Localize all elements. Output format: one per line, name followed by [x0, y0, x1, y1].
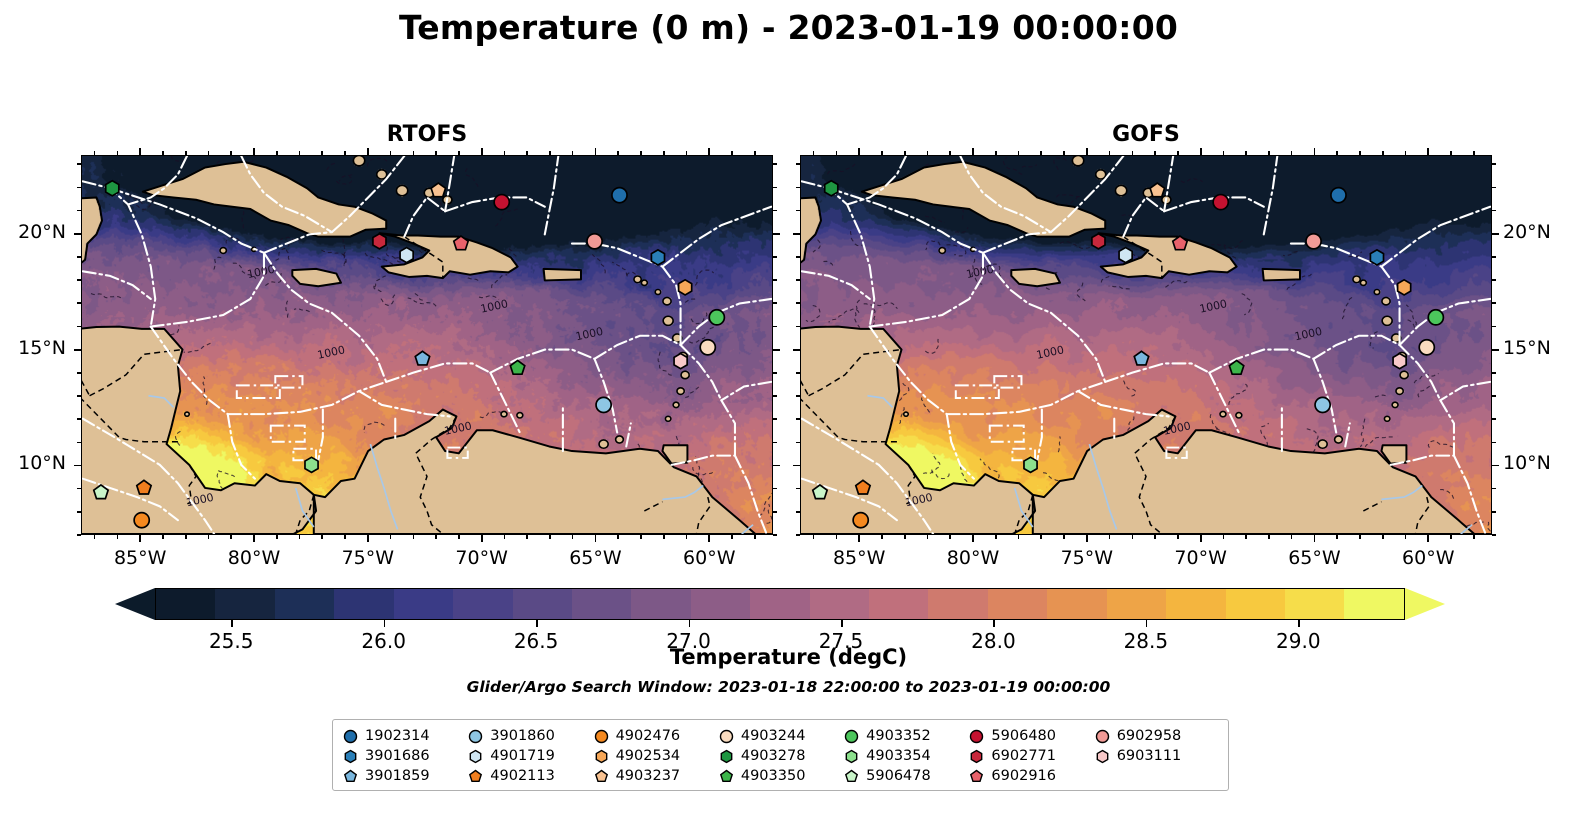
y-tick-minor: [77, 187, 81, 189]
x-tick-minor: [1063, 151, 1065, 155]
x-tick-minor: [208, 151, 210, 155]
legend-label: 4902534: [616, 748, 681, 764]
y-tick-minor: [773, 256, 777, 258]
x-tick-minor: [458, 535, 460, 539]
float-marker-1902314[interactable]: [612, 188, 627, 203]
y-tick-minor: [796, 418, 800, 420]
float-marker-4903237[interactable]: [431, 183, 445, 197]
x-tick-minor: [1018, 535, 1020, 539]
legend-marker-hexagon: [343, 749, 358, 764]
x-tick-minor: [1245, 535, 1247, 539]
x-tick: [972, 535, 974, 542]
x-tick-minor: [1245, 151, 1247, 155]
legend-marker-pentagon: [844, 769, 859, 784]
float-marker-4902476[interactable]: [134, 513, 149, 528]
legend-marker-hexagon: [594, 749, 609, 764]
x-tick: [481, 148, 483, 155]
legend-entry-6902916[interactable]: 6902916: [969, 768, 1092, 784]
legend-entry-5906480[interactable]: 5906480: [969, 728, 1092, 744]
y-tick-minor: [773, 442, 777, 444]
float-marker-4901719[interactable]: [1119, 248, 1132, 263]
float-marker-4902534[interactable]: [679, 280, 692, 295]
x-tick-minor: [94, 535, 96, 539]
x-tick-minor: [1132, 535, 1134, 539]
figure-canvas: Temperature (0 m) - 2023-01-19 00:00:00 …: [0, 0, 1577, 827]
legend-label: 4902476: [616, 728, 681, 744]
y-tick: [1492, 349, 1499, 351]
float-marker-5906478[interactable]: [94, 485, 108, 499]
x-tick-minor: [1154, 151, 1156, 155]
x-tick-minor: [1450, 535, 1452, 539]
float-marker-4903244[interactable]: [700, 340, 715, 355]
x-tick-minor: [1109, 151, 1111, 155]
x-tick-minor: [1177, 151, 1179, 155]
x-tick-minor: [390, 535, 392, 539]
y-tick-label: 15°N: [1503, 337, 1577, 359]
legend-label: 4903278: [741, 748, 806, 764]
x-tick-minor: [1063, 535, 1065, 539]
legend-marker-circle: [1095, 729, 1110, 744]
float-marker-4903278[interactable]: [825, 181, 838, 196]
float-marker-5906478[interactable]: [813, 485, 827, 499]
x-tick-minor: [390, 151, 392, 155]
y-tick-minor: [773, 326, 777, 328]
legend-label: 3901859: [365, 768, 430, 784]
x-tick-minor: [1154, 535, 1156, 539]
legend-entry-3901860[interactable]: 3901860: [468, 728, 591, 744]
legend-entry-4903352[interactable]: 4903352: [844, 728, 967, 744]
legend-marker-hexagon: [468, 749, 483, 764]
y-tick-minor: [77, 442, 81, 444]
y-tick-minor: [796, 279, 800, 281]
float-marker-4903354[interactable]: [305, 457, 318, 472]
legend-label: 3901686: [365, 748, 430, 764]
float-marker-3901859[interactable]: [1134, 351, 1148, 365]
y-tick-minor: [77, 418, 81, 420]
float-marker-1902314[interactable]: [1331, 188, 1346, 203]
x-tick-minor: [1040, 151, 1042, 155]
legend-label: 6902958: [1117, 728, 1182, 744]
colorbar-label: Temperature (degC): [0, 645, 1577, 669]
x-tick-minor: [1268, 535, 1270, 539]
legend-entry-4903350[interactable]: 4903350: [719, 768, 842, 784]
legend-marker-pentagon: [468, 769, 483, 784]
y-tick: [773, 349, 780, 351]
x-tick-minor: [526, 151, 528, 155]
y-tick-minor: [77, 395, 81, 397]
legend-entry-4903244[interactable]: 4903244: [719, 728, 842, 744]
x-tick-minor: [549, 151, 551, 155]
y-tick-label: 10°N: [1503, 452, 1577, 474]
x-tick-minor: [881, 535, 883, 539]
x-tick: [367, 535, 369, 542]
y-tick-minor: [796, 163, 800, 165]
float-marker-6902958[interactable]: [1306, 234, 1321, 249]
y-tick-minor: [77, 326, 81, 328]
y-tick-minor: [1492, 511, 1496, 513]
float-marker-6902916[interactable]: [1173, 236, 1187, 250]
y-tick: [773, 465, 780, 467]
x-tick-minor: [413, 535, 415, 539]
colorbar-gradient: [155, 588, 1405, 620]
legend-marker-pentagon: [343, 769, 358, 784]
y-tick-minor: [1492, 488, 1496, 490]
x-tick-minor: [754, 151, 756, 155]
float-marker-6903111[interactable]: [1393, 354, 1406, 369]
y-tick-minor: [796, 210, 800, 212]
x-tick-minor: [995, 151, 997, 155]
float-marker-3901686[interactable]: [651, 250, 664, 265]
y-tick-minor: [773, 418, 777, 420]
x-tick-minor: [1291, 151, 1293, 155]
y-tick-minor: [77, 534, 81, 536]
legend-marker-hexagon: [1095, 749, 1110, 764]
y-tick-label: 10°N: [0, 452, 66, 474]
x-tick: [858, 535, 860, 542]
x-tick-minor: [458, 151, 460, 155]
x-tick-minor: [927, 151, 929, 155]
legend-entry-6902771[interactable]: 6902771: [969, 748, 1092, 764]
x-tick-minor: [1223, 535, 1225, 539]
y-tick-minor: [1492, 372, 1496, 374]
y-tick-minor: [773, 279, 777, 281]
y-tick-minor: [796, 511, 800, 513]
float-marker-4903350[interactable]: [1229, 360, 1243, 374]
y-tick-minor: [1492, 326, 1496, 328]
float-marker-4902113[interactable]: [137, 480, 151, 494]
legend-entry-4902476[interactable]: 4902476: [594, 728, 717, 744]
x-tick-label: 65°W: [1288, 547, 1340, 569]
colorbar-tick: [1146, 620, 1148, 627]
y-tick-minor: [773, 534, 777, 536]
x-tick-minor: [321, 535, 323, 539]
y-tick-minor: [77, 488, 81, 490]
x-tick-minor: [299, 151, 301, 155]
y-tick-minor: [1492, 256, 1496, 258]
x-tick-minor: [276, 151, 278, 155]
y-tick-minor: [773, 372, 777, 374]
y-tick-minor: [1492, 534, 1496, 536]
x-tick-label: 60°W: [1402, 547, 1454, 569]
legend-marker-circle: [343, 729, 358, 744]
legend-entry-4903278[interactable]: 4903278: [719, 748, 842, 764]
float-markers[interactable]: [801, 156, 1491, 534]
x-tick-minor: [230, 151, 232, 155]
x-tick-minor: [1268, 151, 1270, 155]
x-tick-minor: [1018, 151, 1020, 155]
legend-entry-4901719[interactable]: 4901719: [468, 748, 591, 764]
float-markers[interactable]: [82, 156, 772, 534]
y-tick-minor: [796, 256, 800, 258]
float-marker-4903278[interactable]: [106, 181, 119, 196]
x-tick: [1086, 535, 1088, 542]
legend-label: 4903237: [616, 768, 681, 784]
y-tick-label: 20°N: [0, 221, 66, 243]
legend-entry-4903237[interactable]: 4903237: [594, 768, 717, 784]
map-panel-rtofs[interactable]: 100010001000100010001000: [81, 155, 773, 535]
float-marker-4901719[interactable]: [400, 248, 413, 263]
legend-entry-4903354[interactable]: 4903354: [844, 748, 967, 764]
legend-marker-pentagon: [594, 769, 609, 784]
y-tick-minor: [1492, 418, 1496, 420]
colorbar-tick: [1298, 620, 1300, 627]
y-tick-minor: [773, 395, 777, 397]
x-tick-minor: [572, 151, 574, 155]
x-tick-minor: [686, 535, 688, 539]
x-tick-minor: [995, 535, 997, 539]
legend-marker-circle: [468, 729, 483, 744]
float-marker-3901860[interactable]: [596, 397, 611, 412]
y-tick-minor: [77, 210, 81, 212]
legend-label: 4902113: [490, 768, 555, 784]
x-tick: [1427, 148, 1429, 155]
x-tick: [139, 535, 141, 542]
y-tick-minor: [1492, 163, 1496, 165]
legend-marker-pentagon: [719, 769, 734, 784]
y-tick-minor: [773, 302, 777, 304]
x-tick-label: 85°W: [114, 547, 166, 569]
float-marker-4902113[interactable]: [856, 480, 870, 494]
legend-entry-5906478[interactable]: 5906478: [844, 768, 967, 784]
x-tick-minor: [813, 535, 815, 539]
x-tick-minor: [185, 535, 187, 539]
float-marker-4902476[interactable]: [853, 513, 868, 528]
x-tick-minor: [549, 535, 551, 539]
y-tick-minor: [796, 534, 800, 536]
legend-label: 3901860: [490, 728, 555, 744]
x-tick-minor: [1473, 151, 1475, 155]
y-tick-minor: [796, 326, 800, 328]
float-marker-4903244[interactable]: [1419, 340, 1434, 355]
x-tick-minor: [321, 151, 323, 155]
legend-marker-circle: [594, 729, 609, 744]
x-tick-minor: [572, 535, 574, 539]
y-tick-minor: [77, 279, 81, 281]
legend-label: 5906480: [991, 728, 1056, 744]
x-tick-minor: [1040, 535, 1042, 539]
x-tick-minor: [299, 535, 301, 539]
x-tick-label: 85°W: [833, 547, 885, 569]
y-tick-minor: [1492, 302, 1496, 304]
legend-marker-circle: [969, 729, 984, 744]
x-tick-minor: [435, 151, 437, 155]
x-tick-minor: [1336, 535, 1338, 539]
float-marker-4903237[interactable]: [1150, 183, 1164, 197]
y-tick-minor: [796, 488, 800, 490]
float-marker-4903350[interactable]: [510, 360, 524, 374]
colorbar-tick: [536, 620, 538, 627]
x-tick-minor: [904, 151, 906, 155]
float-marker-3901859[interactable]: [415, 351, 429, 365]
legend-entry-4902113[interactable]: 4902113: [468, 768, 591, 784]
float-marker-4903354[interactable]: [1024, 457, 1037, 472]
y-tick: [793, 349, 800, 351]
y-tick: [74, 465, 81, 467]
x-tick: [1086, 148, 1088, 155]
legend-entry-4902534[interactable]: 4902534: [594, 748, 717, 764]
x-tick-minor: [1109, 535, 1111, 539]
x-tick: [1200, 535, 1202, 542]
y-tick-minor: [796, 187, 800, 189]
x-tick-minor: [813, 151, 815, 155]
float-marker-6903111[interactable]: [674, 354, 687, 369]
x-tick: [1427, 535, 1429, 542]
y-tick-minor: [1492, 395, 1496, 397]
legend-entry-1902314[interactable]: 1902314: [343, 728, 466, 744]
x-tick-minor: [927, 535, 929, 539]
panel-title-rtofs: RTOFS: [81, 122, 773, 147]
x-tick-minor: [435, 535, 437, 539]
x-tick-minor: [836, 151, 838, 155]
y-tick: [74, 349, 81, 351]
x-tick: [367, 148, 369, 155]
y-tick-minor: [796, 395, 800, 397]
float-marker-3901686[interactable]: [1370, 250, 1383, 265]
x-tick-label: 65°W: [569, 547, 621, 569]
y-tick: [793, 233, 800, 235]
x-tick: [595, 148, 597, 155]
x-tick-minor: [185, 151, 187, 155]
x-tick-minor: [617, 535, 619, 539]
x-tick-minor: [1223, 151, 1225, 155]
colorbar: 25.526.026.527.027.528.028.529.0: [115, 588, 1445, 620]
x-tick: [858, 148, 860, 155]
x-tick-label: 60°W: [683, 547, 735, 569]
legend-marker-hexagon: [969, 749, 984, 764]
float-marker-6902771[interactable]: [1092, 234, 1105, 249]
colorbar-tick: [689, 620, 691, 627]
y-tick-minor: [773, 163, 777, 165]
legend-entry-6902958[interactable]: 6902958: [1095, 728, 1218, 744]
x-tick-minor: [1382, 535, 1384, 539]
x-tick-minor: [1359, 151, 1361, 155]
float-marker-4902534[interactable]: [1398, 280, 1411, 295]
float-legend: 1902314390186049024764903244490335259064…: [332, 719, 1229, 791]
x-tick-minor: [504, 151, 506, 155]
legend-marker-hexagon: [844, 749, 859, 764]
x-tick-minor: [754, 535, 756, 539]
x-tick-minor: [640, 151, 642, 155]
x-tick-label: 75°W: [342, 547, 394, 569]
x-tick: [253, 535, 255, 542]
x-tick-minor: [836, 535, 838, 539]
float-marker-4903352[interactable]: [1428, 310, 1443, 325]
legend-label: 6902771: [991, 748, 1056, 764]
x-tick-minor: [640, 535, 642, 539]
float-marker-4903352[interactable]: [709, 310, 724, 325]
x-tick-minor: [1291, 535, 1293, 539]
x-tick-minor: [1382, 151, 1384, 155]
legend-label: 4903244: [741, 728, 806, 744]
float-marker-6902771[interactable]: [373, 234, 386, 249]
y-tick-minor: [77, 511, 81, 513]
y-tick-minor: [1492, 279, 1496, 281]
x-tick-minor: [230, 535, 232, 539]
legend-entry-6903111[interactable]: 6903111: [1095, 748, 1218, 764]
float-marker-3901860[interactable]: [1315, 397, 1330, 412]
legend-marker-circle: [719, 729, 734, 744]
legend-entry-3901686[interactable]: 3901686: [343, 748, 466, 764]
y-tick-minor: [796, 442, 800, 444]
float-marker-6902958[interactable]: [587, 234, 602, 249]
y-tick: [1492, 233, 1499, 235]
legend-marker-hexagon: [719, 749, 734, 764]
x-tick-minor: [663, 535, 665, 539]
y-tick-minor: [77, 163, 81, 165]
legend-label: 1902314: [365, 728, 430, 744]
x-tick-minor: [949, 151, 951, 155]
y-tick-minor: [796, 372, 800, 374]
x-tick-minor: [1132, 151, 1134, 155]
x-tick-minor: [413, 151, 415, 155]
y-tick-minor: [1492, 210, 1496, 212]
y-tick-minor: [773, 210, 777, 212]
float-marker-5906480[interactable]: [1213, 195, 1228, 210]
panel-title-gofs: GOFS: [800, 122, 1492, 147]
x-tick-minor: [731, 535, 733, 539]
legend-label: 5906478: [866, 768, 931, 784]
x-tick-minor: [344, 151, 346, 155]
x-tick-label: 80°W: [947, 547, 999, 569]
x-tick-label: 70°W: [455, 547, 507, 569]
x-tick-minor: [1473, 535, 1475, 539]
x-tick-minor: [344, 535, 346, 539]
colorbar-tick: [993, 620, 995, 627]
float-marker-5906480[interactable]: [494, 195, 509, 210]
y-tick-minor: [77, 302, 81, 304]
x-tick-label: 80°W: [228, 547, 280, 569]
x-tick-minor: [949, 535, 951, 539]
x-tick-minor: [117, 151, 119, 155]
x-tick: [595, 535, 597, 542]
x-tick-minor: [1359, 535, 1361, 539]
y-tick-label: 20°N: [1503, 221, 1577, 243]
y-tick-label: 15°N: [0, 337, 66, 359]
y-tick-minor: [77, 256, 81, 258]
colorbar-tick: [231, 620, 233, 627]
x-tick: [708, 535, 710, 542]
x-tick-label: 70°W: [1174, 547, 1226, 569]
x-tick-label: 75°W: [1061, 547, 1113, 569]
legend-label: 4903350: [741, 768, 806, 784]
x-tick-minor: [1336, 151, 1338, 155]
colorbar-extend-over: [1405, 588, 1445, 620]
x-tick: [708, 148, 710, 155]
legend-entry-3901859[interactable]: 3901859: [343, 768, 466, 784]
legend-label: 4903352: [866, 728, 931, 744]
x-tick-minor: [617, 151, 619, 155]
x-tick-minor: [117, 535, 119, 539]
search-window-caption: Glider/Argo Search Window: 2023-01-18 22…: [0, 678, 1577, 696]
float-marker-6902916[interactable]: [454, 236, 468, 250]
x-tick: [1314, 535, 1316, 542]
figure-title: Temperature (0 m) - 2023-01-19 00:00:00: [0, 8, 1577, 47]
legend-marker-circle: [844, 729, 859, 744]
x-tick-minor: [663, 151, 665, 155]
x-tick: [139, 148, 141, 155]
y-tick-minor: [1492, 187, 1496, 189]
map-panel-gofs[interactable]: 100010001000100010001000: [800, 155, 1492, 535]
colorbar-tick: [384, 620, 386, 627]
x-tick: [1314, 148, 1316, 155]
x-tick-minor: [276, 535, 278, 539]
y-tick-minor: [796, 302, 800, 304]
x-tick-minor: [162, 535, 164, 539]
legend-label: 4901719: [490, 748, 555, 764]
x-tick-minor: [526, 535, 528, 539]
legend-label: 6903111: [1117, 748, 1182, 764]
x-tick-minor: [686, 151, 688, 155]
